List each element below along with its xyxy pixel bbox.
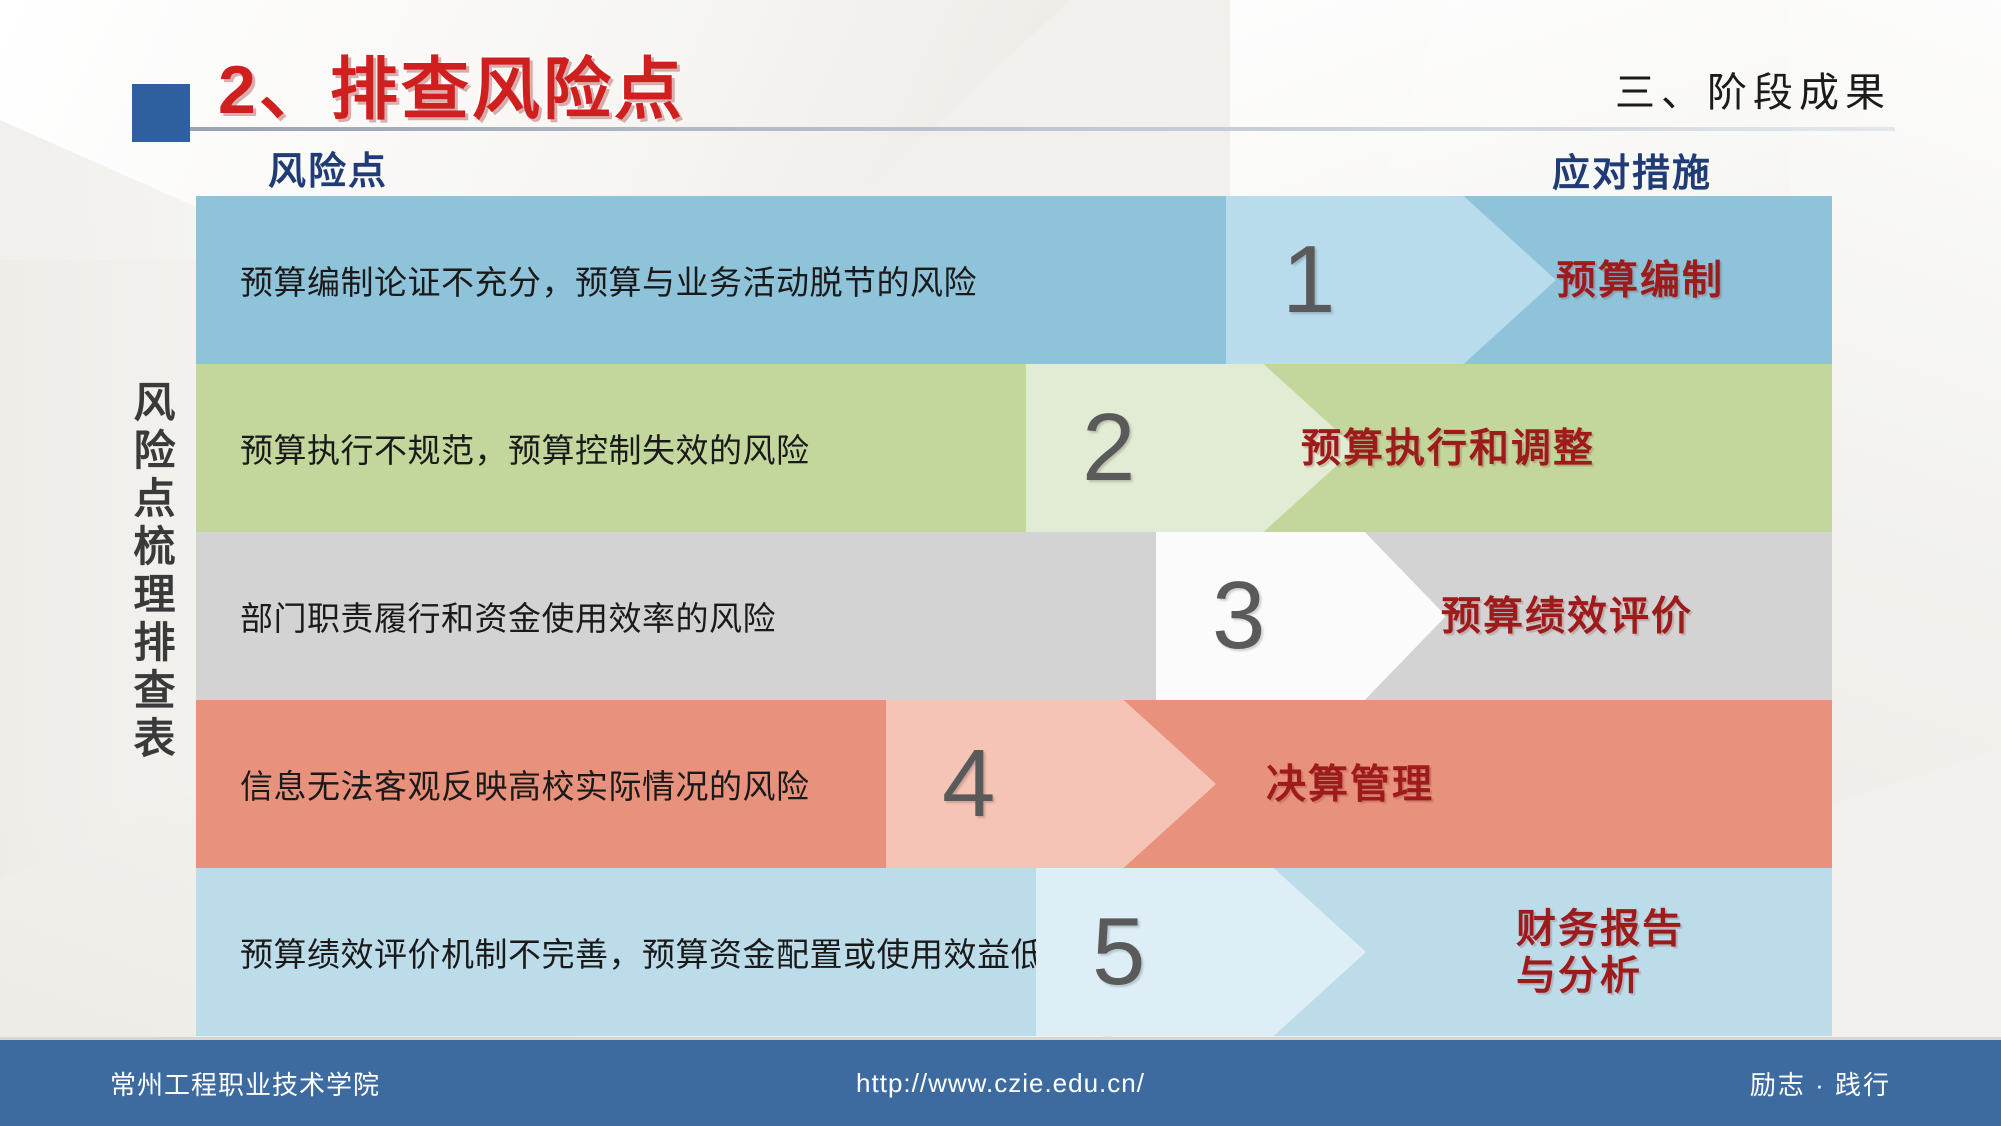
- slide-footer: 常州工程职业技术学院 http://www.czie.edu.cn/ 励志 · …: [0, 1040, 2001, 1126]
- footer-url[interactable]: http://www.czie.edu.cn/: [856, 1068, 1145, 1099]
- step-number: 4: [942, 736, 995, 832]
- risk-column-caption: 风险点: [268, 140, 388, 195]
- countermeasure-label: 预算执行和调整: [1301, 424, 1595, 471]
- risk-description: 预算绩效评价机制不完善，预算资金配置或使用效益低下风险: [240, 928, 1145, 976]
- risk-matrix: 预算编制论证不充分，预算与业务活动脱节的风险1预算编制预算执行不规范，预算控制失…: [196, 196, 1832, 1036]
- step-number: 1: [1282, 232, 1335, 328]
- countermeasure-label: 决算管理: [1266, 760, 1434, 807]
- footer-organization: 常州工程职业技术学院: [110, 1065, 380, 1102]
- title-accent-square: [132, 84, 190, 142]
- risk-row: 预算绩效评价机制不完善，预算资金配置或使用效益低下风险5财务报告 与分析: [196, 868, 1832, 1036]
- step-number: 3: [1212, 568, 1265, 664]
- countermeasure-label: 预算绩效评价: [1441, 592, 1693, 639]
- risk-row: 预算编制论证不充分，预算与业务活动脱节的风险1预算编制: [196, 196, 1832, 364]
- risk-description: 预算执行不规范，预算控制失效的风险: [240, 424, 810, 472]
- step-number: 5: [1092, 904, 1145, 1000]
- step-number: 2: [1082, 400, 1135, 496]
- risk-row: 信息无法客观反映高校实际情况的风险4决算管理: [196, 700, 1832, 868]
- risk-description: 部门职责履行和资金使用效率的风险: [240, 592, 776, 640]
- risk-description: 信息无法客观反映高校实际情况的风险: [240, 760, 810, 808]
- section-label: 三、阶段成果: [1615, 60, 1891, 118]
- countermeasure-label: 财务报告 与分析: [1516, 905, 1684, 999]
- table-vertical-label: 风险点梳理排查表: [108, 380, 172, 764]
- risk-description: 预算编制论证不充分，预算与业务活动脱节的风险: [240, 256, 977, 304]
- risk-row: 部门职责履行和资金使用效率的风险3预算绩效评价: [196, 532, 1832, 700]
- action-column-caption: 应对措施: [1552, 142, 1712, 197]
- page-title: 2、排查风险点: [218, 34, 685, 133]
- risk-row: 预算执行不规范，预算控制失效的风险2预算执行和调整: [196, 364, 1832, 532]
- slide-canvas: 2、排查风险点 三、阶段成果 风险点 应对措施 风险点梳理排查表 预算编制论证不…: [0, 0, 2001, 1126]
- footer-motto: 励志 · 践行: [1750, 1065, 1891, 1102]
- countermeasure-label: 预算编制: [1556, 256, 1724, 303]
